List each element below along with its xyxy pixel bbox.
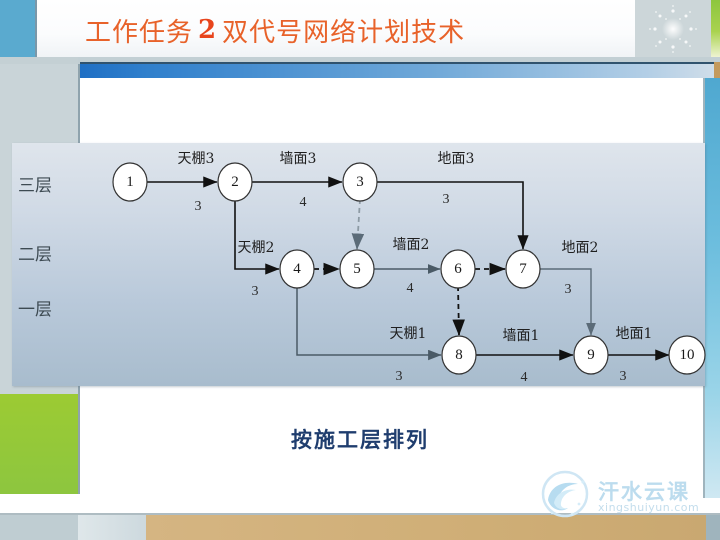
activity-label-tianpeng3: 天棚3 — [178, 151, 215, 167]
activity-label-tianpeng1: 天棚1 — [390, 326, 427, 342]
duration-dimian3: 3 — [443, 192, 450, 207]
activity-label-dimian1: 地面1 — [616, 326, 653, 342]
node-10-label: 10 — [680, 347, 695, 363]
node-2-label: 2 — [231, 174, 239, 190]
dummy-arrow-3-5 — [357, 199, 360, 249]
node-7[interactable]: 7 — [506, 250, 540, 288]
activity-label-qiangmian1: 墙面1 — [503, 328, 540, 344]
node-4[interactable]: 4 — [280, 250, 314, 288]
node-1-label: 1 — [126, 174, 134, 190]
arrow-2-4 — [235, 199, 279, 269]
diagram-caption: 按施工层排列 — [0, 424, 720, 454]
node-6-label: 6 — [454, 261, 462, 277]
node-3[interactable]: 3 — [343, 163, 377, 201]
arrow-7-9 — [540, 269, 591, 335]
node-8-label: 8 — [455, 347, 463, 363]
node-7-label: 7 — [519, 261, 527, 277]
activity-label-qiangmian3: 墙面3 — [280, 151, 317, 167]
node-10[interactable]: 10 — [669, 336, 705, 374]
duration-qiangmian1: 4 — [521, 370, 528, 385]
network-diagram: 1 2 3 4 5 6 7 8 9 10 天棚3 墙面3 地面3 天棚2 墙面2… — [0, 0, 720, 540]
node-5-label: 5 — [353, 261, 361, 277]
arrow-4-8 — [297, 286, 441, 355]
activity-label-dimian2: 地面2 — [562, 240, 599, 256]
node-5[interactable]: 5 — [340, 250, 374, 288]
node-2[interactable]: 2 — [218, 163, 252, 201]
dummy-arrow-6-8 — [458, 286, 459, 335]
slide-canvas: 工作任务 2 双代号网络计划技术 三层 二层 一层 — [0, 0, 720, 540]
node-9-label: 9 — [587, 347, 595, 363]
duration-qiangmian2: 4 — [407, 281, 414, 296]
node-4-label: 4 — [293, 261, 301, 277]
duration-tianpeng1: 3 — [396, 369, 403, 384]
watermark-domain: xingshuiyun.com — [598, 501, 699, 514]
activity-label-tianpeng2: 天棚2 — [238, 240, 275, 256]
node-3-label: 3 — [356, 174, 364, 190]
node-6[interactable]: 6 — [441, 250, 475, 288]
duration-dimian1: 3 — [620, 369, 627, 384]
node-9[interactable]: 9 — [574, 336, 608, 374]
duration-tianpeng2: 3 — [252, 284, 259, 299]
duration-dimian2: 3 — [565, 282, 572, 297]
activity-label-dimian3: 地面3 — [438, 151, 475, 167]
duration-qiangmian3: 4 — [300, 195, 307, 210]
node-1[interactable]: 1 — [113, 163, 147, 201]
node-8[interactable]: 8 — [442, 336, 476, 374]
activity-label-qiangmian2: 墙面2 — [393, 237, 430, 253]
duration-tianpeng3: 3 — [195, 199, 202, 214]
